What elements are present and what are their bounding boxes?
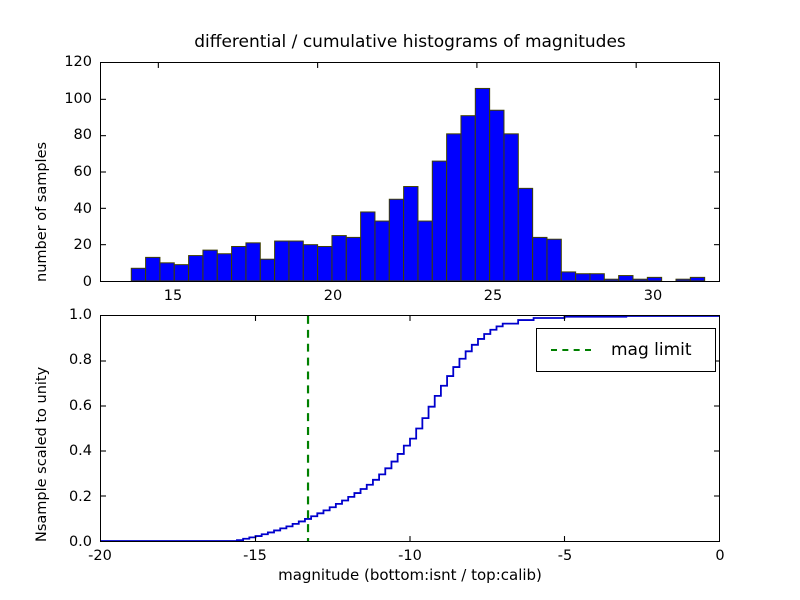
histogram-bar: [346, 237, 360, 281]
bottom-y-tick-label: 0.0: [50, 534, 92, 550]
histogram-bar: [189, 256, 203, 281]
figure-title: differential / cumulative histograms of …: [100, 32, 720, 52]
bottom-y-tick-label: 0.8: [50, 352, 92, 368]
top-x-tick-label: 25: [484, 288, 502, 304]
bottom-x-tick-label: -20: [88, 548, 112, 564]
histogram-bar: [232, 246, 246, 281]
histogram-bar: [404, 187, 418, 281]
histogram-bar: [561, 272, 575, 281]
histogram-bar: [217, 254, 231, 281]
histogram-bar: [590, 274, 604, 281]
mag-limit-legend-label: mag limit: [611, 340, 692, 360]
bottom-x-tick-label: -10: [398, 548, 422, 564]
histogram-bar: [447, 134, 461, 281]
figure-canvas: differential / cumulative histograms of …: [0, 0, 800, 600]
histogram-bar: [690, 277, 704, 281]
top-y-tick-label: 0: [58, 274, 92, 290]
top-y-tick-label: 100: [58, 91, 92, 107]
bottom-x-tick-label: -5: [558, 548, 572, 564]
histogram-bar: [375, 221, 389, 281]
histogram-bar: [160, 263, 174, 281]
top-x-tick-label: 20: [324, 288, 342, 304]
top-x-tick-label: 15: [164, 288, 182, 304]
histogram-bar: [260, 259, 274, 281]
histogram-bar: [389, 199, 403, 281]
histogram-bar: [547, 239, 561, 281]
histogram-bar: [303, 245, 317, 281]
histogram-bar: [432, 161, 446, 281]
histogram-bar: [289, 241, 303, 281]
bottom-x-tick-label: -15: [243, 548, 267, 564]
bottom-y-tick-label: 1.0: [50, 307, 92, 323]
top-x-tick-label: 30: [644, 288, 662, 304]
mag-limit-legend-swatch: [551, 349, 591, 351]
histogram-bar: [131, 268, 145, 281]
histogram-bar: [203, 250, 217, 281]
histogram-bar: [174, 265, 188, 281]
top-y-tick-label: 80: [58, 127, 92, 143]
histogram-bar: [676, 279, 690, 281]
top-y-tick-label: 20: [58, 237, 92, 253]
histogram-bar: [246, 243, 260, 281]
top-panel-y-axis-label: number of samples: [34, 142, 50, 282]
histogram-bar: [275, 241, 289, 281]
histogram-axes: [100, 62, 720, 282]
histogram-bar: [504, 134, 518, 281]
histogram-bar: [604, 279, 618, 281]
histogram-bar: [490, 110, 504, 281]
legend-box: mag limit: [536, 328, 716, 372]
histogram-bar: [633, 279, 647, 281]
top-y-tick-label: 120: [58, 54, 92, 70]
bottom-y-tick-label: 0.2: [50, 489, 92, 505]
histogram-bar: [332, 236, 346, 281]
histogram-bar: [518, 188, 532, 281]
histogram-bar: [461, 116, 475, 281]
bottom-panel-y-axis-label: Nsample scaled to unity: [34, 367, 50, 542]
bottom-y-tick-label: 0.6: [50, 398, 92, 414]
top-y-tick-label: 60: [58, 164, 92, 180]
histogram-plot-area: [101, 63, 719, 281]
histogram-bar: [418, 221, 432, 281]
histogram-bar: [619, 276, 633, 281]
histogram-bar: [533, 237, 547, 281]
histogram-bar: [647, 277, 661, 281]
histogram-bar: [475, 88, 489, 281]
bottom-x-tick-label: 0: [715, 548, 724, 564]
histogram-bar: [361, 212, 375, 281]
top-y-tick-label: 40: [58, 201, 92, 217]
histogram-bar: [146, 257, 160, 281]
bottom-y-tick-label: 0.4: [50, 443, 92, 459]
x-axis-label: magnitude (bottom:isnt / top:calib): [100, 566, 720, 584]
histogram-bar: [576, 274, 590, 281]
histogram-bar: [318, 246, 332, 281]
